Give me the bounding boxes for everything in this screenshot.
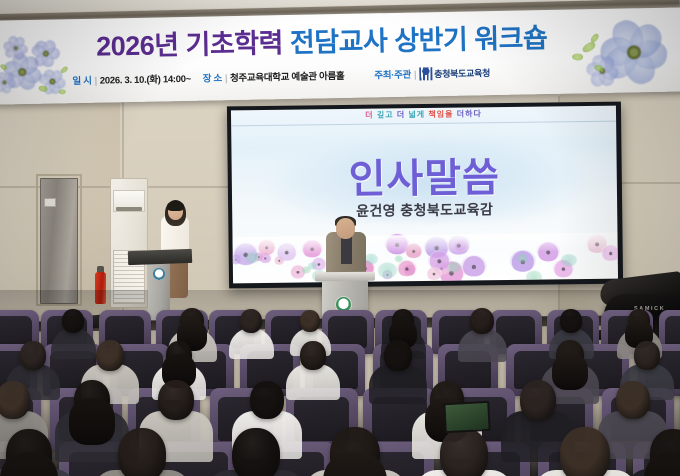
banner-host-value: 충청북도교육청 [434, 68, 490, 79]
door-sign [44, 198, 56, 207]
banner-leaf [59, 66, 68, 74]
audience-person-head [560, 309, 582, 334]
slogan-word-3: 더 [397, 110, 405, 119]
event-banner: 2026년 기초학력 전담교사 상반기 워크숍 일 시|2026. 3. 10.… [0, 7, 680, 104]
banner-leaf [572, 53, 584, 62]
photo-scene: 더 깊고 더 넓게 책임을 더하다 인사말씀 윤건영 충청북도교육감 2026년… [0, 0, 680, 476]
slogan-word-1: 더 [365, 111, 373, 120]
banner-flower-center [50, 79, 55, 84]
audience-person-long-hair [69, 398, 115, 444]
audience-person-head [440, 428, 488, 476]
banner-sep-2: | [225, 73, 227, 84]
audience-person-head [470, 308, 494, 335]
audience-person-head [0, 381, 30, 419]
audience-person-head [520, 380, 556, 420]
slogan-word-2: 깊고 [377, 110, 394, 119]
audience-laptop-screen [443, 401, 491, 433]
chungbuk-education-logo-icon [419, 67, 432, 80]
slide-slogan: 더 깊고 더 넓게 책임을 더하다 [231, 107, 616, 123]
banner-place-value: 청주교육대학교 예술관 아름홀 [230, 71, 345, 84]
stage-door[interactable] [40, 178, 78, 304]
banner-leaf [589, 32, 600, 43]
speaker-head [336, 218, 355, 239]
slogan-word-4: 넓게 [408, 110, 425, 119]
audience-person-head [62, 309, 84, 334]
banner-title-blue: 전담교사 상반기 워크숍 [290, 23, 548, 58]
audience-person-head [250, 381, 284, 419]
slide-foliage [364, 254, 378, 265]
audience-person-head [634, 341, 660, 370]
banner-title-purple: 2026년 기초학력 [96, 28, 283, 62]
air-conditioner-display [116, 207, 142, 211]
audience-person-head [240, 309, 262, 334]
audience-area [0, 296, 680, 476]
side-lectern-top [128, 249, 192, 265]
presentation-slide: 더 깊고 더 넓게 책임을 더하다 인사말씀 윤건영 충청북도교육감 [231, 106, 618, 284]
main-lectern-top [315, 272, 375, 282]
banner-flower-center [18, 68, 26, 76]
banner-place-label: 장 소 [203, 73, 222, 84]
audience-person-head [560, 427, 610, 476]
slide-flower-fade [233, 233, 618, 256]
mc-hair-front [167, 201, 184, 211]
banner-sep-1: | [95, 76, 97, 87]
banner-date-label: 일 시 [72, 76, 91, 87]
slogan-word-6: 더하다 [457, 109, 482, 118]
audience-person-head [300, 310, 320, 332]
side-lectern-emblem [153, 268, 165, 280]
slide-foliage [446, 261, 460, 273]
audience-person-head [384, 340, 412, 371]
audience-person-long-hair [552, 354, 588, 390]
audience-person-head [158, 380, 194, 420]
slogan-word-5: 책임을 [428, 110, 453, 119]
slide-foliage [302, 266, 311, 273]
banner-host-label: 주최·주관 [374, 70, 411, 82]
slide-flower-border [233, 233, 619, 284]
audience-person-head [20, 341, 46, 370]
banner-leaf [581, 41, 597, 54]
slide-pansy [461, 255, 487, 277]
banner-sep-3: | [414, 70, 416, 81]
audience-person-head [300, 341, 326, 370]
audience-person-head [96, 340, 124, 371]
audience-person-head [118, 428, 166, 476]
slide-pansy [426, 267, 442, 280]
banner-date-value: 2026. 3. 10.(화) 14:00~ [100, 74, 191, 87]
slide-foliage [377, 262, 397, 278]
audience-person-head [616, 381, 650, 419]
slide-foliage [394, 255, 403, 262]
speaker-shirt [341, 236, 352, 264]
banner-flower-center [43, 51, 49, 57]
banner-leaf [58, 89, 66, 95]
audience-person-head [232, 428, 280, 476]
banner-flower-center [627, 46, 640, 59]
projection-screen-frame: 더 깊고 더 넓게 책임을 더하다 인사말씀 윤건영 충청북도교육감 [227, 102, 623, 289]
slide-title: 인사말씀 [231, 144, 617, 207]
slide-foliage [525, 271, 541, 283]
slide-foliage [561, 254, 577, 267]
